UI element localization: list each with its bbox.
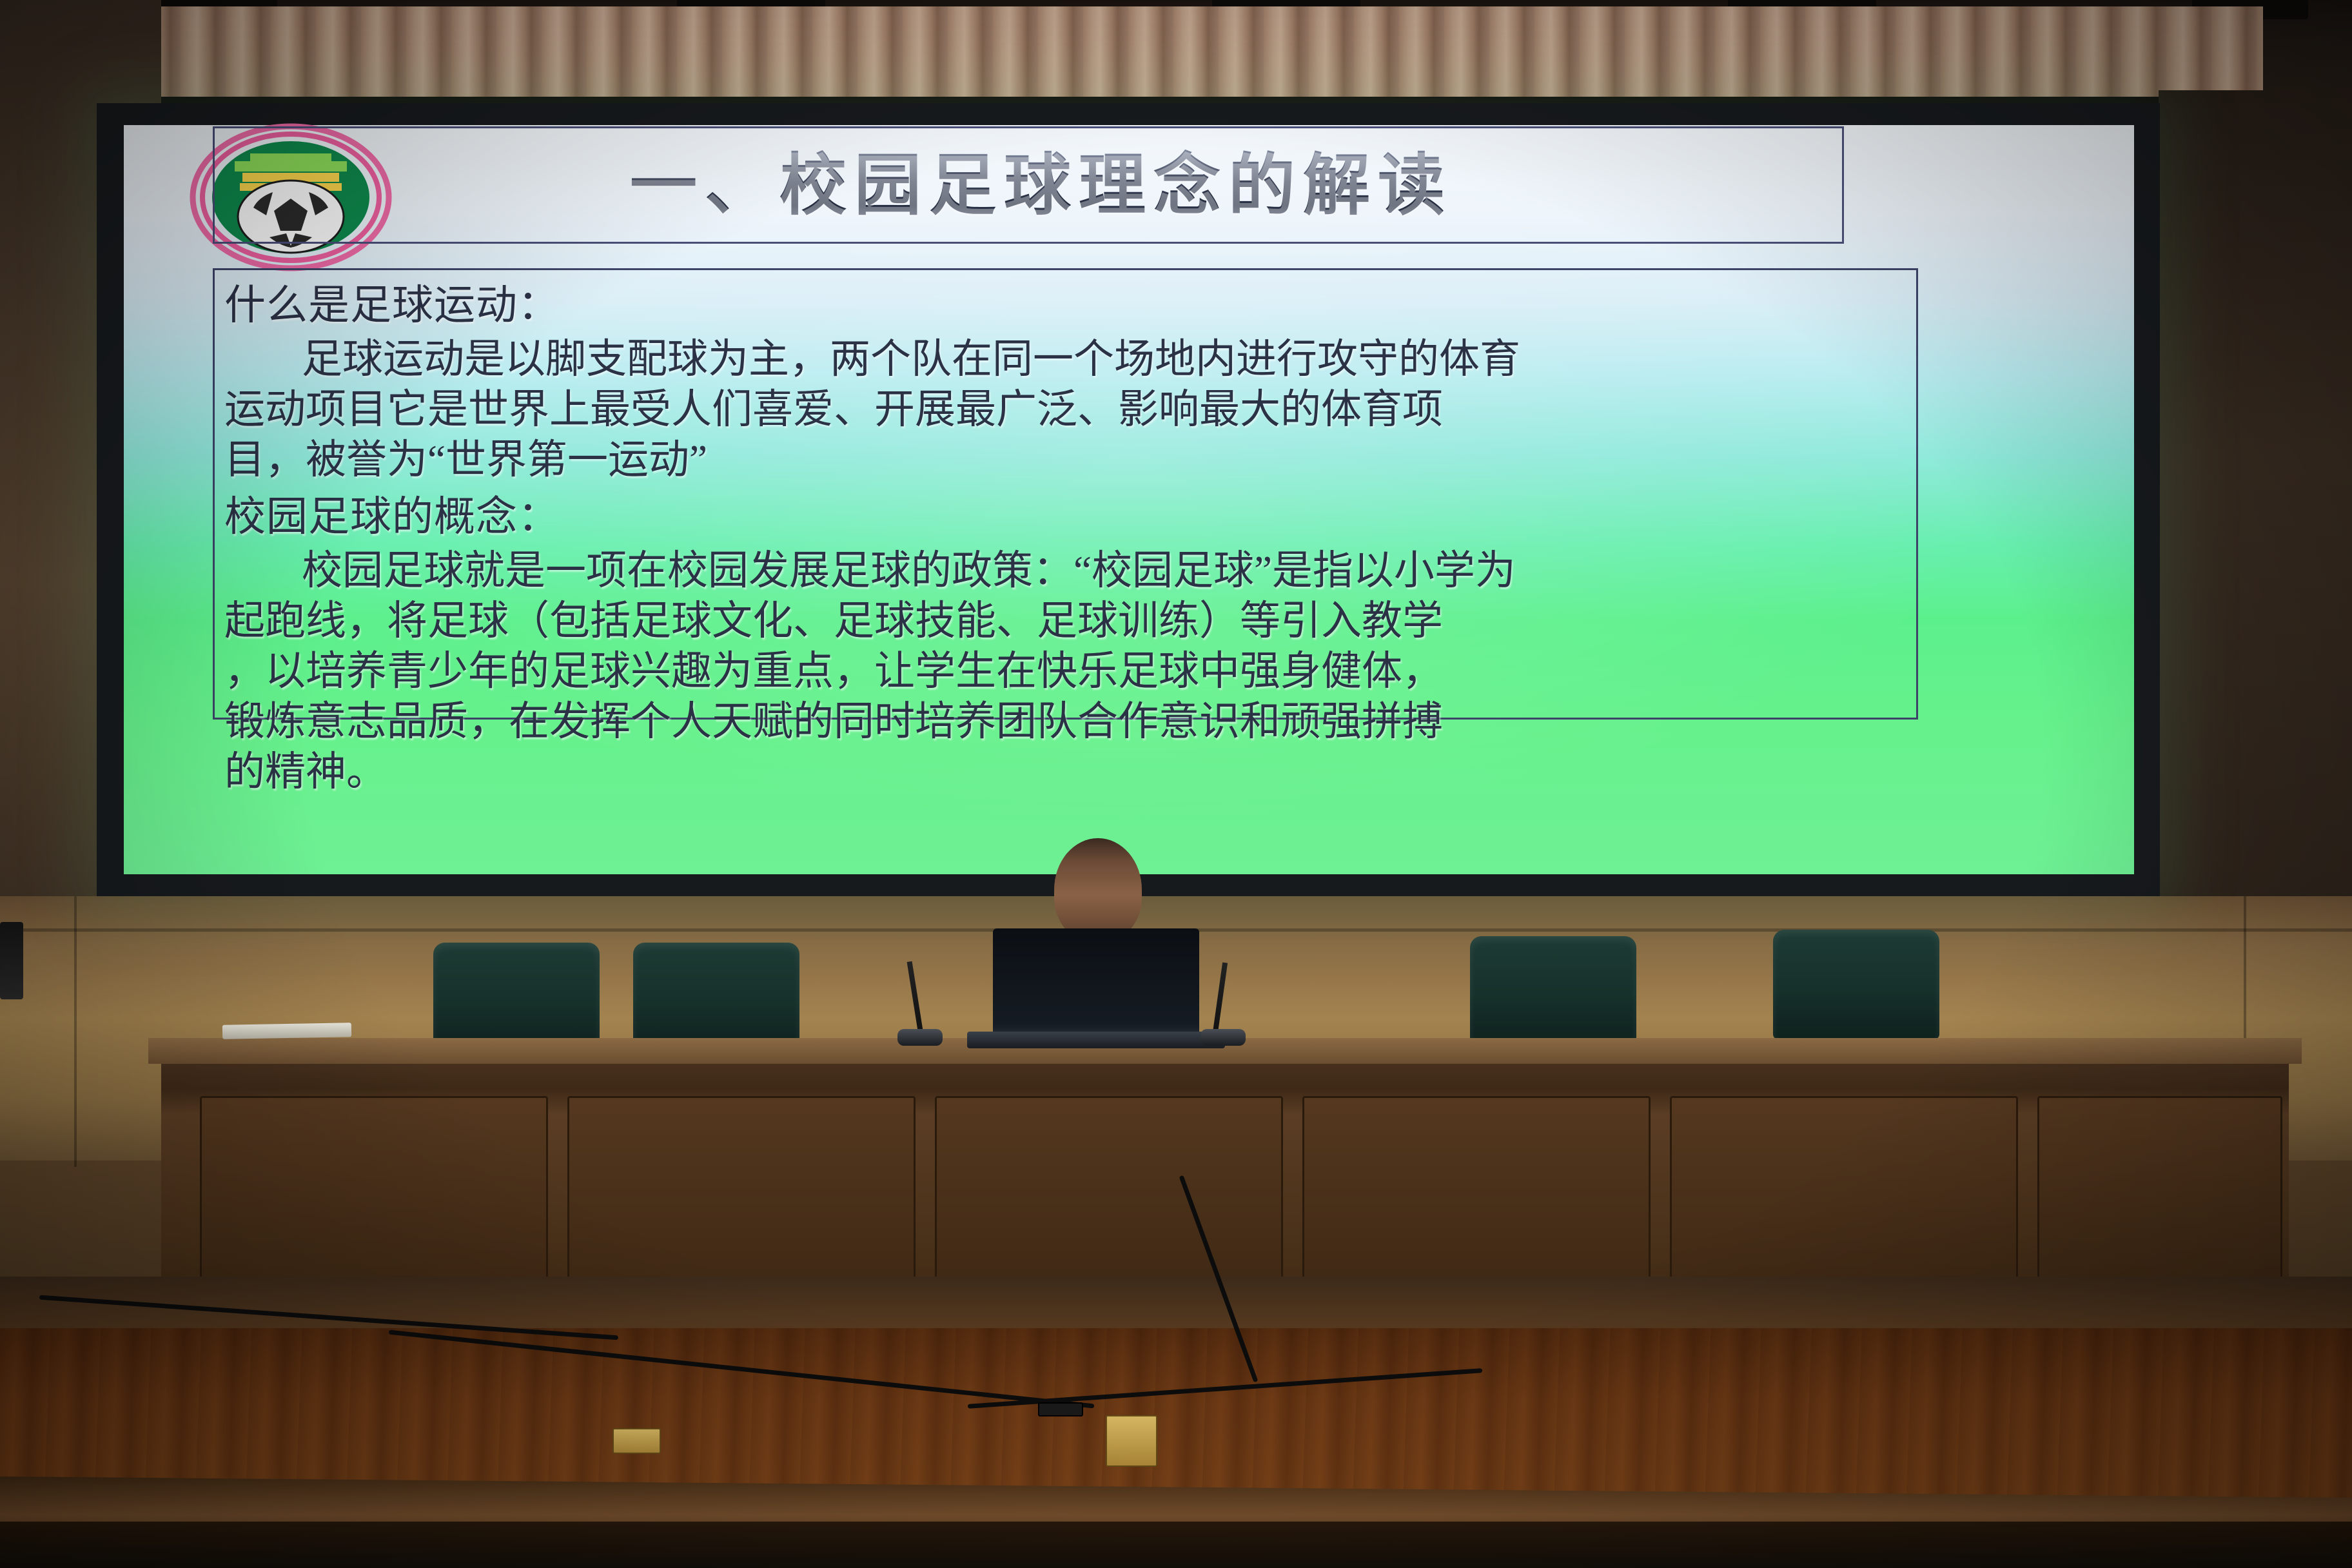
section-2-line-2: 起跑线，将足球（包括足球文化、足球技能、足球训练）等引入教学 <box>224 596 1920 646</box>
section-2-line-3: ，以培养青少年的足球兴趣为重点，让学生在快乐足球中强身健体， <box>224 646 1920 696</box>
chair-3 <box>1470 936 1636 1046</box>
section-1-heading: 什么是足球运动： <box>224 277 1920 334</box>
section-2-line-1: 校园足球就是一项在校园发展足球的政策：“校园足球”是指以小学为 <box>224 545 1920 596</box>
section-1-paragraph: 足球运动是以脚支配球为主，两个队在同一个场地内进行攻守的体育 运动项目它是世界上… <box>224 334 1920 485</box>
section-2-line-5: 的精神。 <box>224 747 1920 797</box>
wall-panel-line-1 <box>74 896 77 1167</box>
laptop[interactable] <box>993 928 1199 1041</box>
lecture-hall-scene: 一、校园足球理念的解读 什么是足球运动： 足球运动是以脚支配球为主，两个队在同一… <box>0 0 2352 1568</box>
section-1-line-1: 足球运动是以脚支配球为主，两个队在同一个场地内进行攻守的体育 <box>224 334 1920 384</box>
microphone-right-base <box>1200 1029 1246 1046</box>
slide-section-1: 什么是足球运动： 足球运动是以脚支配球为主，两个队在同一个场地内进行攻守的体育 … <box>224 277 1920 485</box>
section-1-line-3: 目，被誉为“世界第一运动” <box>224 435 1920 485</box>
floor-box-2[interactable] <box>1106 1415 1157 1467</box>
chair-4 <box>1773 930 1939 1039</box>
slide-section-2: 校园足球的概念： 校园足球就是一项在校园发展足球的政策：“校园足球”是指以小学为… <box>224 489 1920 797</box>
right-wall <box>2159 90 2352 1006</box>
chair-1 <box>433 943 600 1052</box>
section-2-heading: 校园足球的概念： <box>224 489 1920 545</box>
presenter-head <box>1054 838 1142 941</box>
stage-front-face <box>0 1522 2352 1568</box>
wall-speaker <box>0 922 23 999</box>
laptop-keyboard[interactable] <box>967 1032 1225 1048</box>
rolled-papers[interactable] <box>222 1023 351 1039</box>
section-1-line-2: 运动项目它是世界上最受人们喜爱、开展最广泛、影响最大的体育项 <box>224 384 1920 435</box>
chair-2 <box>633 943 799 1052</box>
floor-box-1[interactable] <box>612 1428 661 1454</box>
floor-box-3 <box>1038 1402 1083 1416</box>
microphone-left-base <box>897 1029 943 1046</box>
section-2-line-4: 锻炼意志品质，在发挥个人天赋的同时培养团队合作意识和顽强拼搏 <box>224 696 1920 747</box>
section-2-paragraph: 校园足球就是一项在校园发展足球的政策：“校园足球”是指以小学为 起跑线，将足球（… <box>224 545 1920 797</box>
page-title: 一、校园足球理念的解读 <box>400 138 1683 235</box>
slide-body-text: 什么是足球运动： 足球运动是以脚支配球为主，两个队在同一个场地内进行攻守的体育 … <box>224 277 1920 797</box>
